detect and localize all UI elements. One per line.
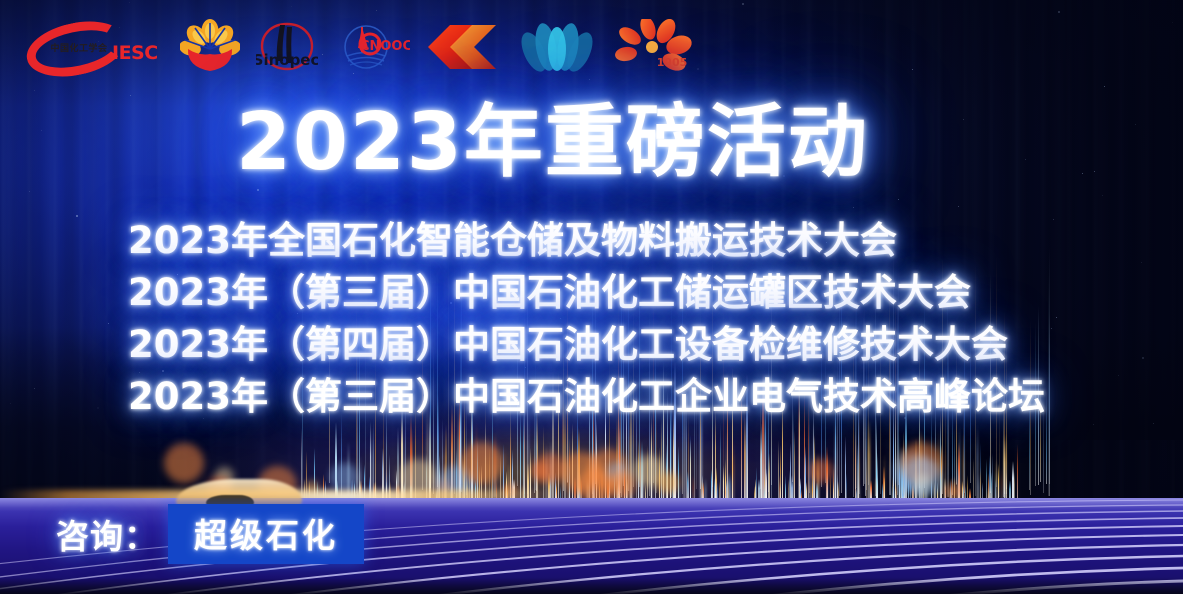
red-chevron-icon	[426, 23, 502, 71]
cnooc-icon: CNOOC	[334, 22, 410, 72]
red-flower-icon: 1905	[612, 19, 696, 75]
light-streak	[688, 414, 689, 502]
light-streak	[977, 424, 978, 500]
conference-item-2: 2023年（第三届）中国石油化工储运罐区技术大会	[128, 268, 1045, 318]
sponsor-logo-strip: 中国化工学会 IESC	[26, 12, 698, 80]
flower-year-label: 1905	[657, 56, 688, 69]
bokeh-orb	[330, 463, 359, 492]
logo-sinopec: Sinopec	[256, 15, 320, 77]
bokeh-orb	[901, 457, 942, 498]
logo-red-chevron-group	[426, 15, 504, 77]
light-streak	[715, 408, 716, 504]
bokeh-orb	[164, 443, 204, 483]
logo-china-chemical-industry-society: 中国化工学会 IESC	[26, 15, 166, 77]
sinopec-abbr-label: Sinopec	[256, 51, 318, 69]
blue-petal-icon	[518, 19, 596, 75]
contact-label: 咨询：	[56, 510, 158, 558]
bokeh-orb	[532, 462, 551, 481]
light-streak	[793, 409, 794, 498]
bokeh-orb	[657, 472, 679, 494]
logo-cnooc: CNOOC	[334, 15, 412, 77]
conference-item-3: 2023年（第四届）中国石油化工设备检维修技术大会	[128, 320, 1045, 370]
page-title: 2023年重磅活动	[236, 103, 869, 182]
conference-item-4: 2023年（第三届）中国石油化工企业电气技术高峰论坛	[128, 372, 1045, 422]
ciesc-abbr-label: IESC	[112, 42, 158, 64]
poster-canvas: 中国化工学会 IESC	[0, 0, 1183, 594]
contact-footer: 咨询： 超级石化	[56, 504, 364, 564]
light-streak-tall	[1046, 391, 1047, 484]
light-streak-tall	[1049, 247, 1050, 484]
cnooc-abbr-label: CNOOC	[360, 39, 410, 54]
conference-item-1: 2023年全国石化智能仓储及物料搬运技术大会	[128, 216, 1045, 266]
logo-red-flower-1905: 1905	[612, 15, 698, 77]
light-streak	[690, 439, 691, 499]
contact-badge-label: 超级石化	[194, 509, 338, 557]
contact-badge[interactable]: 超级石化	[168, 504, 364, 564]
bokeh-orb	[561, 452, 602, 493]
logo-cnpc-petrochina	[180, 15, 242, 77]
conference-list: 2023年全国石化智能仓储及物料搬运技术大会 2023年（第三届）中国石油化工储…	[128, 216, 1045, 422]
bottom-fade	[0, 578, 1183, 594]
sinopec-icon: Sinopec	[256, 19, 318, 75]
logo-blue-petal-group	[518, 15, 598, 77]
light-streak	[986, 459, 987, 498]
bokeh-orb	[461, 442, 503, 484]
cnpc-flower-icon	[180, 19, 240, 75]
ciesc-chinese-label: 中国化工学会	[44, 41, 114, 54]
light-streak	[794, 430, 795, 500]
